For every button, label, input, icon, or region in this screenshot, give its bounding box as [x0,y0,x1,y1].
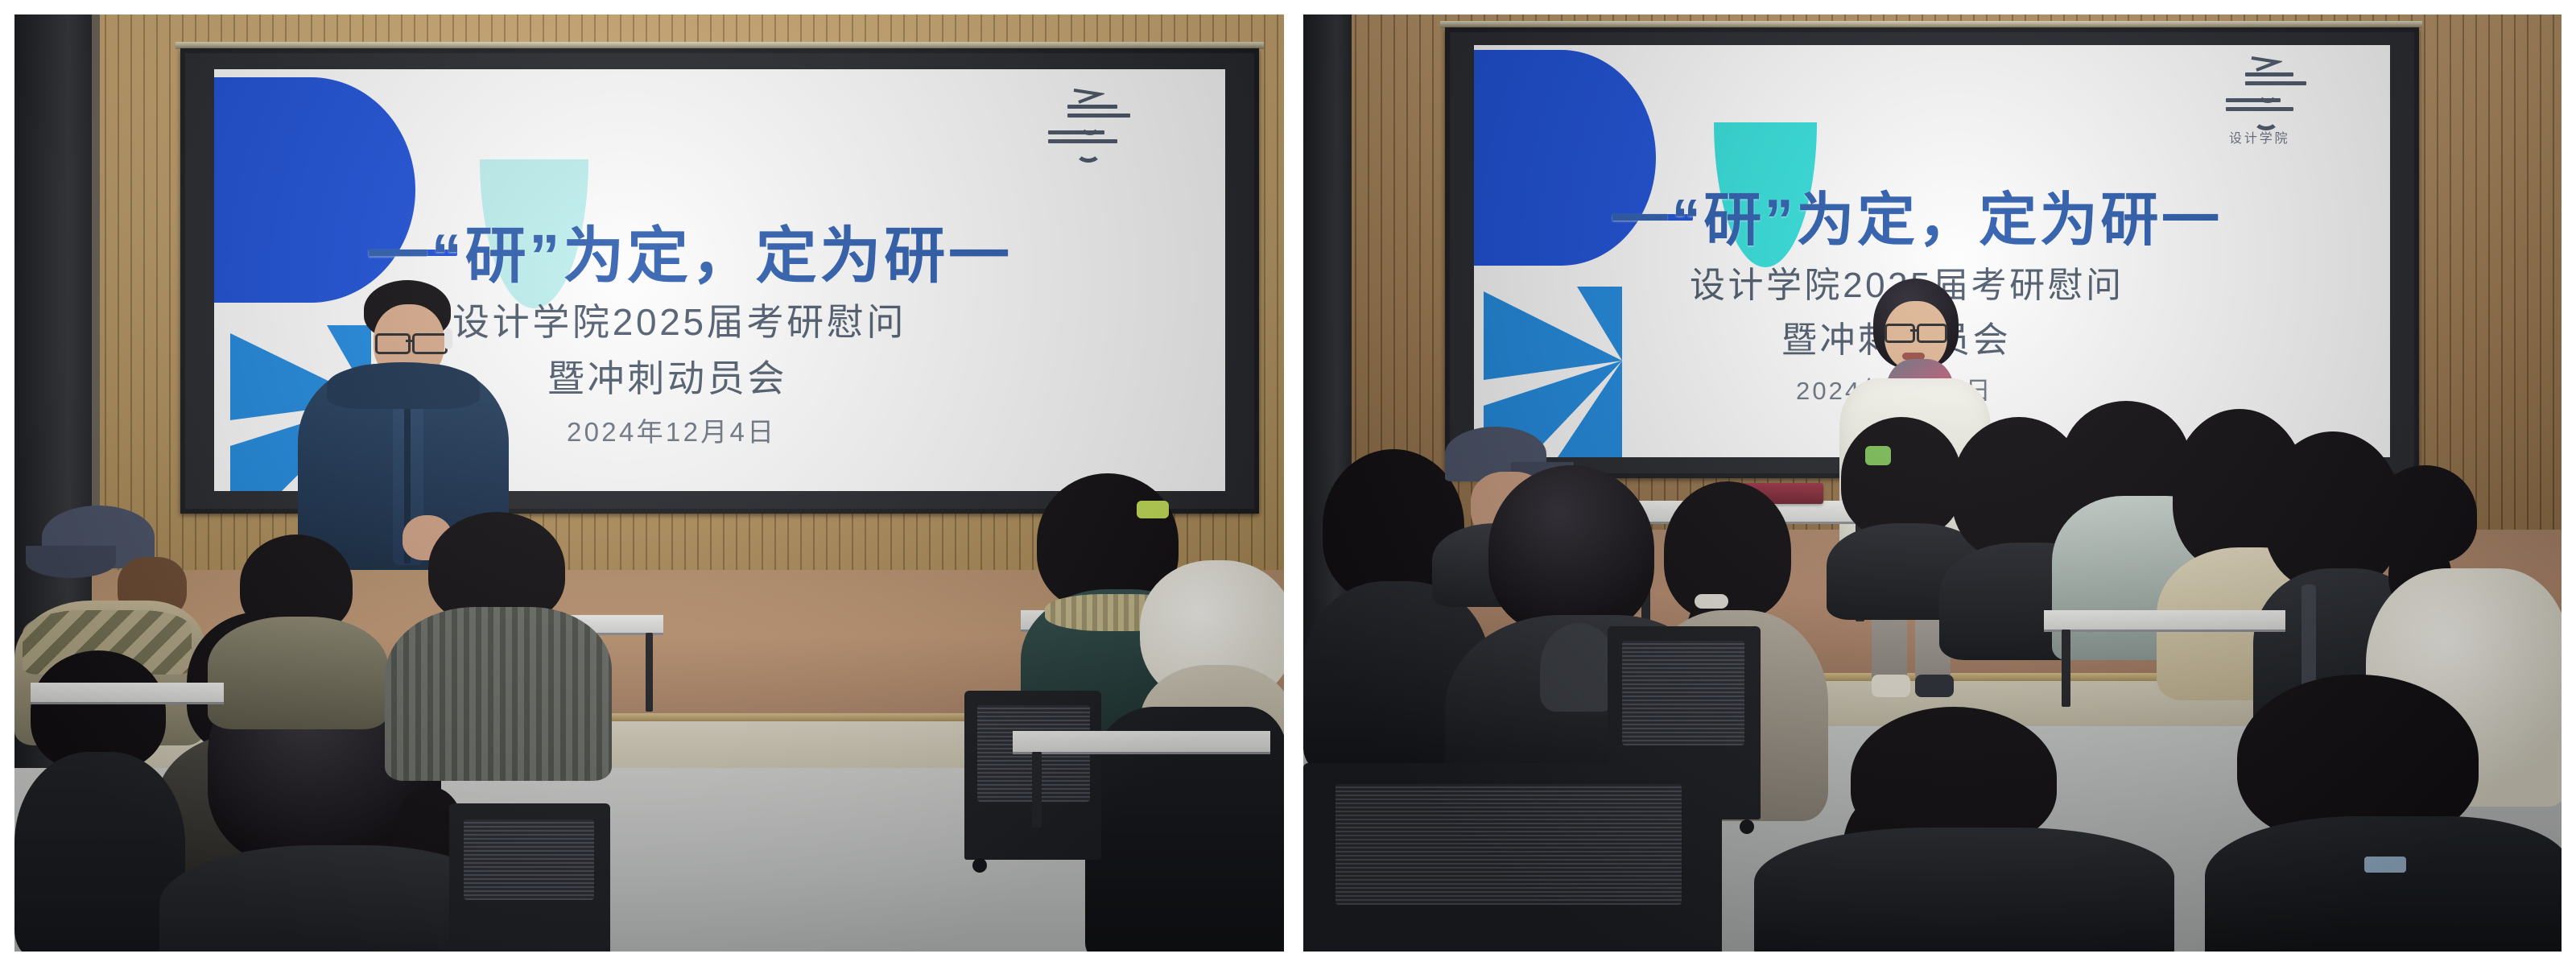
chair-caster-3 [1740,819,1754,834]
hair-clip-green [1137,501,1169,518]
collage-root: 一“研”为定，定为研一 设计学院2025届考研慰问 暨冲刺动员会 2024年12… [0,0,2576,966]
badge [2364,857,2406,873]
chair-left-2 [449,803,610,952]
hair-tie [1695,594,1728,609]
university-logo-icon [1043,87,1140,161]
photo-panel-left: 一“研”为定，定为研一 设计学院2025届考研慰问 暨冲刺动员会 2024年12… [14,14,1284,952]
audience-member-4 [208,530,385,723]
slide-subtitle-2: 暨冲刺动员会 [547,349,787,402]
hair-clip-green [1865,446,1891,465]
audience-r-foreground [2205,675,2562,952]
chair-caster-1 [972,858,987,873]
audience-member-5 [385,512,610,778]
desk-left-mid [31,683,224,755]
slide-title: 一“研”为定，定为研一 [1611,172,2223,257]
desk-right-mid [2044,610,2285,707]
audience-r-foreground-2 [1754,707,2173,952]
desk-left-front [1013,731,1270,828]
slide-date: 2024年12月4日 [567,411,776,449]
chair-right-front [1303,763,1722,952]
photo-panel-right: 设计学院 一“研”为定，定为研一 设计学院2025届考研慰问 暨冲刺动员会 20… [1303,14,2562,952]
university-logo-icon: 设计学院 [2221,56,2316,145]
logo-caption: 设计学院 [2229,127,2290,147]
